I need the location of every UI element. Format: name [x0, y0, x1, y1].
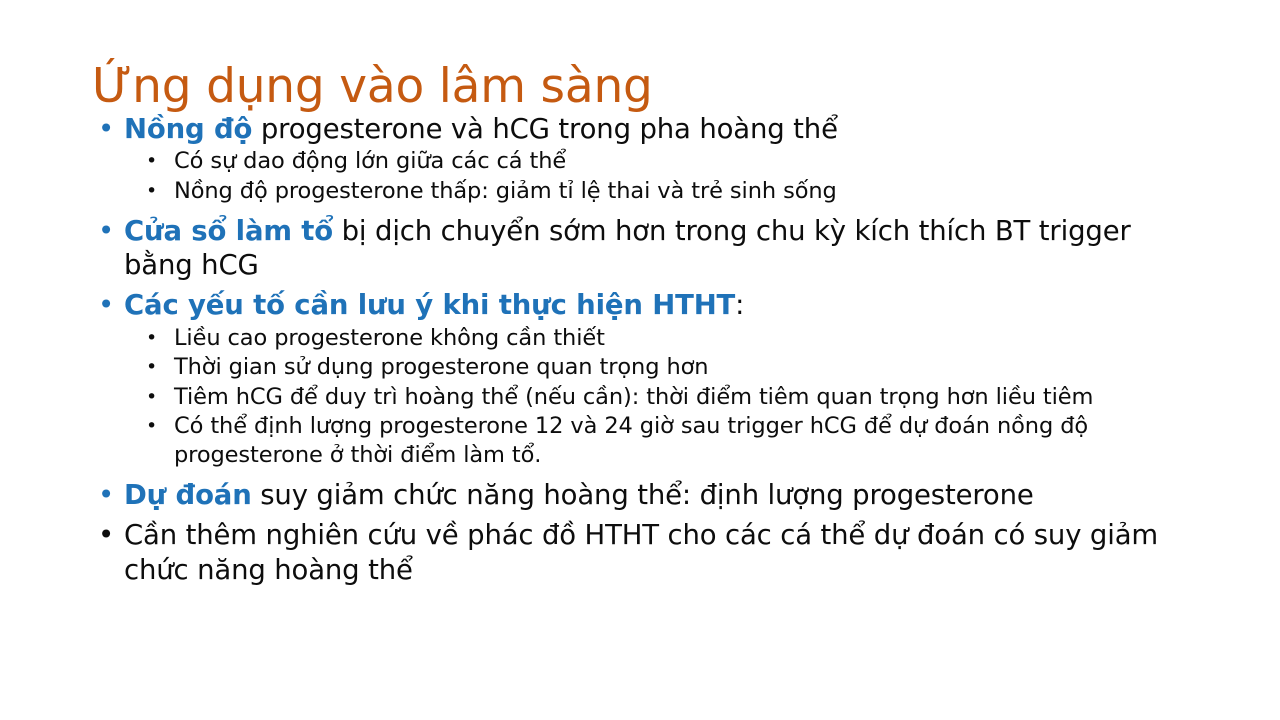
- bullet-4-text: suy giảm chức năng hoàng thể: định lượng…: [252, 479, 1034, 511]
- bullet-2-highlight: Cửa sổ làm tổ: [124, 215, 333, 247]
- bullet-marker-icon: •: [98, 478, 114, 512]
- bullet-marker-icon: •: [146, 324, 157, 353]
- sub-bullet-3-2: • Thời gian sử dụng progesterone quan tr…: [134, 353, 1197, 382]
- bullet-item-5: • Cần thêm nghiên cứu về phác đồ HTHT ch…: [92, 518, 1197, 586]
- sub-bullet-3-3-text: Tiêm hCG để duy trì hoàng thể (nếu cần):…: [174, 384, 1093, 410]
- bullet-1-highlight: Nồng độ: [124, 113, 252, 145]
- bullet-item-1: • Nồng độ progesterone và hCG trong pha …: [92, 112, 1197, 146]
- bullet-item-2: • Cửa sổ làm tổ bị dịch chuyển sớm hơn t…: [92, 214, 1197, 282]
- bullet-item-3: • Các yếu tố cần lưu ý khi thực hiện HTH…: [92, 288, 1197, 322]
- bullet-marker-icon: •: [146, 147, 157, 176]
- sub-bullet-1-1: • Có sự dao động lớn giữa các cá thể: [134, 147, 1197, 176]
- bullet-5-text: Cần thêm nghiên cứu về phác đồ HTHT cho …: [124, 519, 1158, 585]
- sub-bullet-3-2-text: Thời gian sử dụng progesterone quan trọn…: [174, 354, 708, 380]
- bullet-marker-icon: •: [146, 412, 157, 441]
- sub-bullet-3-4-text: Có thể định lượng progesterone 12 và 24 …: [174, 413, 1088, 468]
- sub-bullet-3-1-text: Liều cao progesterone không cần thiết: [174, 325, 605, 351]
- bullet-marker-icon: •: [98, 214, 114, 248]
- sub-bullet-1-1-text: Có sự dao động lớn giữa các cá thể: [174, 148, 566, 174]
- page-title: Ứng dụng vào lâm sàng: [92, 59, 1192, 114]
- bullet-marker-icon: •: [146, 177, 157, 206]
- bullet-marker-icon: •: [98, 288, 114, 322]
- bullet-marker-icon: •: [146, 383, 157, 412]
- sub-bullet-1-2-text: Nồng độ progesterone thấp: giảm tỉ lệ th…: [174, 178, 837, 204]
- sub-bullet-3-4: • Có thể định lượng progesterone 12 và 2…: [134, 412, 1197, 469]
- bullet-marker-icon: •: [98, 518, 114, 552]
- sub-bullet-3-3: • Tiêm hCG để duy trì hoàng thể (nếu cần…: [134, 383, 1197, 412]
- bullet-marker-icon: •: [98, 112, 114, 146]
- bullet-4-highlight: Dự đoán: [124, 479, 252, 511]
- bullet-item-4: • Dự đoán suy giảm chức năng hoàng thể: …: [92, 478, 1197, 512]
- bullet-3-highlight: Các yếu tố cần lưu ý khi thực hiện HTHT: [124, 289, 735, 321]
- bullet-list: • Nồng độ progesterone và hCG trong pha …: [92, 112, 1197, 589]
- bullet-marker-icon: •: [146, 353, 157, 382]
- slide-canvas: Ứng dụng vào lâm sàng • Nồng độ progeste…: [0, 0, 1280, 720]
- sub-bullet-1-2: • Nồng độ progesterone thấp: giảm tỉ lệ …: [134, 177, 1197, 206]
- sub-bullet-3-1: • Liều cao progesterone không cần thiết: [134, 324, 1197, 353]
- bullet-1-text: progesterone và hCG trong pha hoàng thể: [252, 113, 838, 145]
- bullet-3-text: :: [735, 289, 744, 321]
